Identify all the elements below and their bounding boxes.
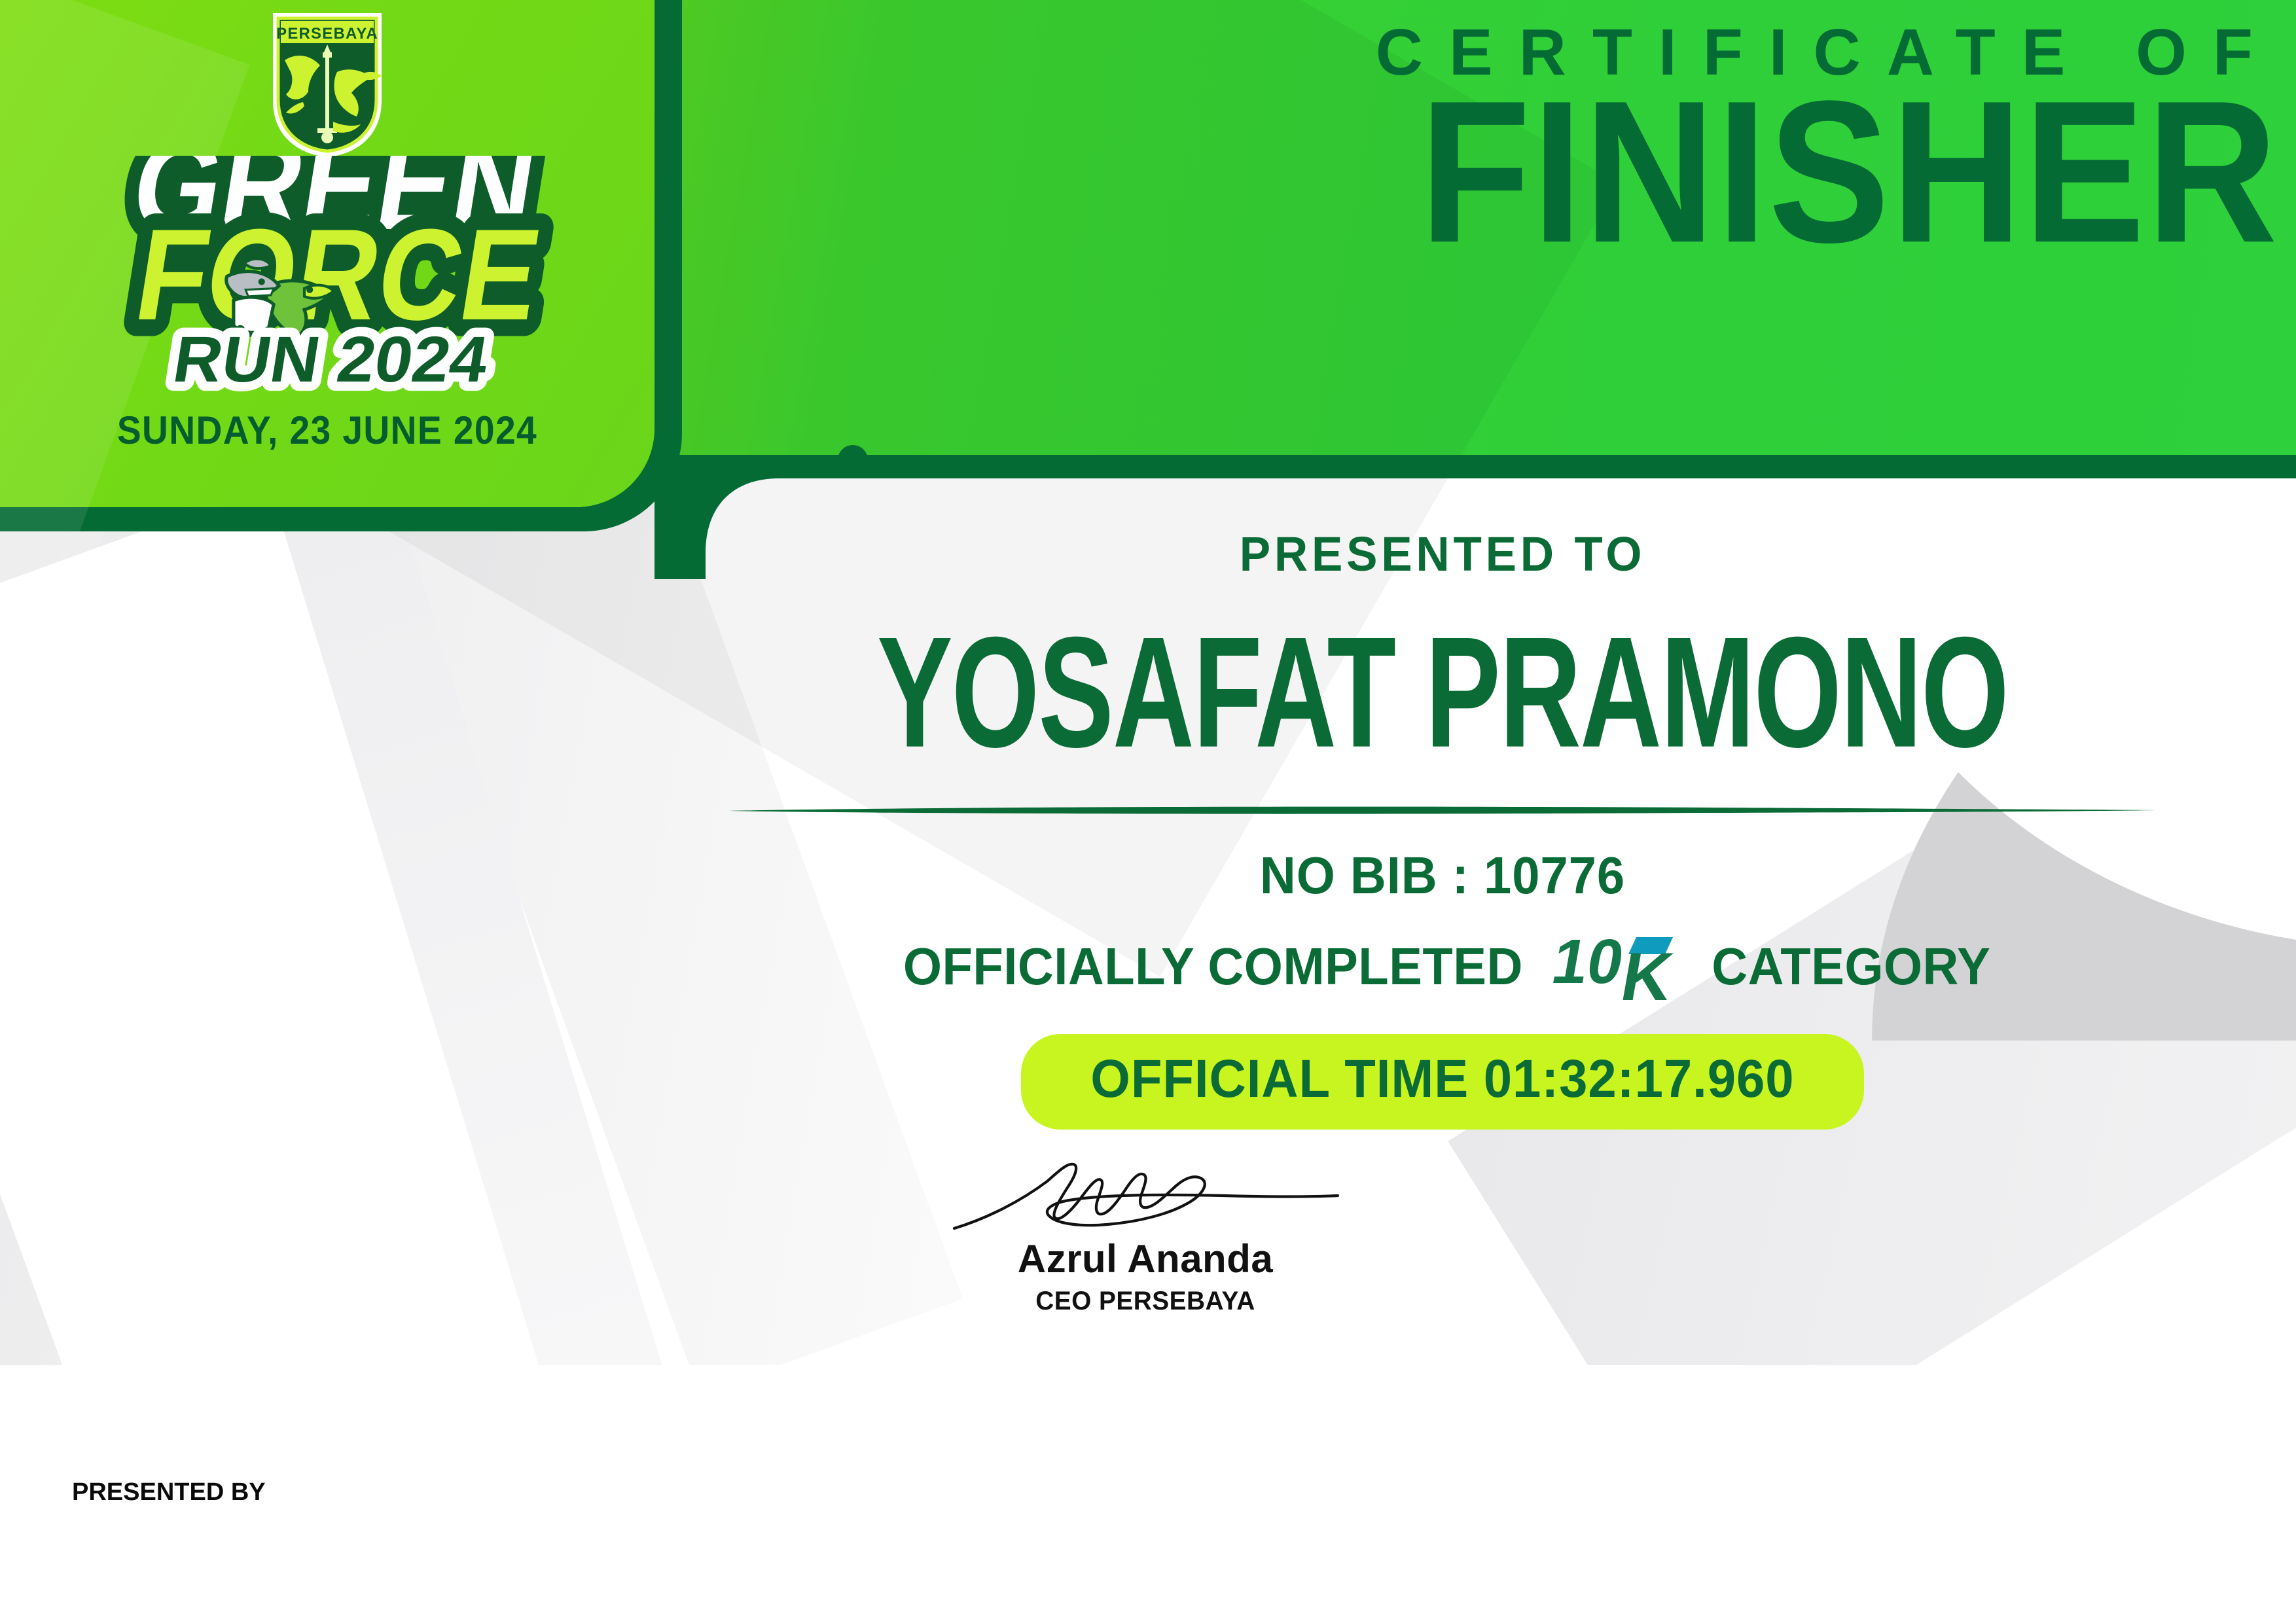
official-time-text: OFFICIAL TIME 01:32:17.960 bbox=[1090, 1048, 1794, 1110]
signatory-name: Azrul Ananda bbox=[844, 1236, 1446, 1281]
category-line: OFFICIALLY COMPLETED 10 K CATEGORY bbox=[589, 928, 2296, 1005]
event-date: SUNDAY, 23 JUNE 2024 bbox=[26, 408, 628, 453]
certificate-title-line2: FINISHER bbox=[1085, 77, 2279, 269]
signatory-role: CEO PERSEBAYA bbox=[853, 1287, 1437, 1316]
category-prefix: OFFICIALLY COMPLETED bbox=[903, 936, 1523, 997]
header-horizontal-rule bbox=[867, 457, 2296, 463]
signature-icon bbox=[942, 1155, 1348, 1239]
category-suffix: CATEGORY bbox=[1712, 936, 1990, 997]
presented-by-label: PRESENTED BY bbox=[72, 1478, 223, 1508]
certificate-canvas: PERSEBAYA GREEN GRE bbox=[0, 0, 2296, 1623]
tenk-category-logo-icon: 10 K bbox=[1552, 928, 1691, 1005]
presented-to-label: PRESENTED TO bbox=[623, 526, 2262, 582]
official-time-badge: OFFICIAL TIME 01:32:17.960 bbox=[1021, 1034, 1864, 1130]
certificate-title-block: CERTIFICATE OF FINISHER bbox=[1152, 18, 2291, 254]
signature-block: Azrul Ananda CEO PERSEBAYA bbox=[844, 1155, 1446, 1316]
event-logo-lockup: PERSEBAYA GREEN GRE bbox=[0, 9, 655, 493]
persebaya-crest-label: PERSEBAYA bbox=[276, 25, 378, 43]
bib-number-line: NO BIB : 10776 bbox=[632, 846, 2253, 906]
header-dot-marker bbox=[838, 445, 868, 475]
tenk-logo-number: 10 bbox=[1552, 928, 1629, 997]
green-force-run-wordmark: GREEN GREEN FORCE FORCE bbox=[39, 156, 615, 398]
wordmark-run2024: RUN 2024 bbox=[168, 323, 493, 395]
recipient-name: YOSAFAT PRAMONO bbox=[657, 604, 2227, 781]
persebaya-crest-icon: PERSEBAYA bbox=[265, 9, 389, 160]
header-dot-rule bbox=[838, 445, 2296, 466]
name-divider bbox=[729, 805, 2156, 814]
sponsor-footer: PRESENTED BY PERSEBAYA bbox=[0, 1365, 2296, 1623]
